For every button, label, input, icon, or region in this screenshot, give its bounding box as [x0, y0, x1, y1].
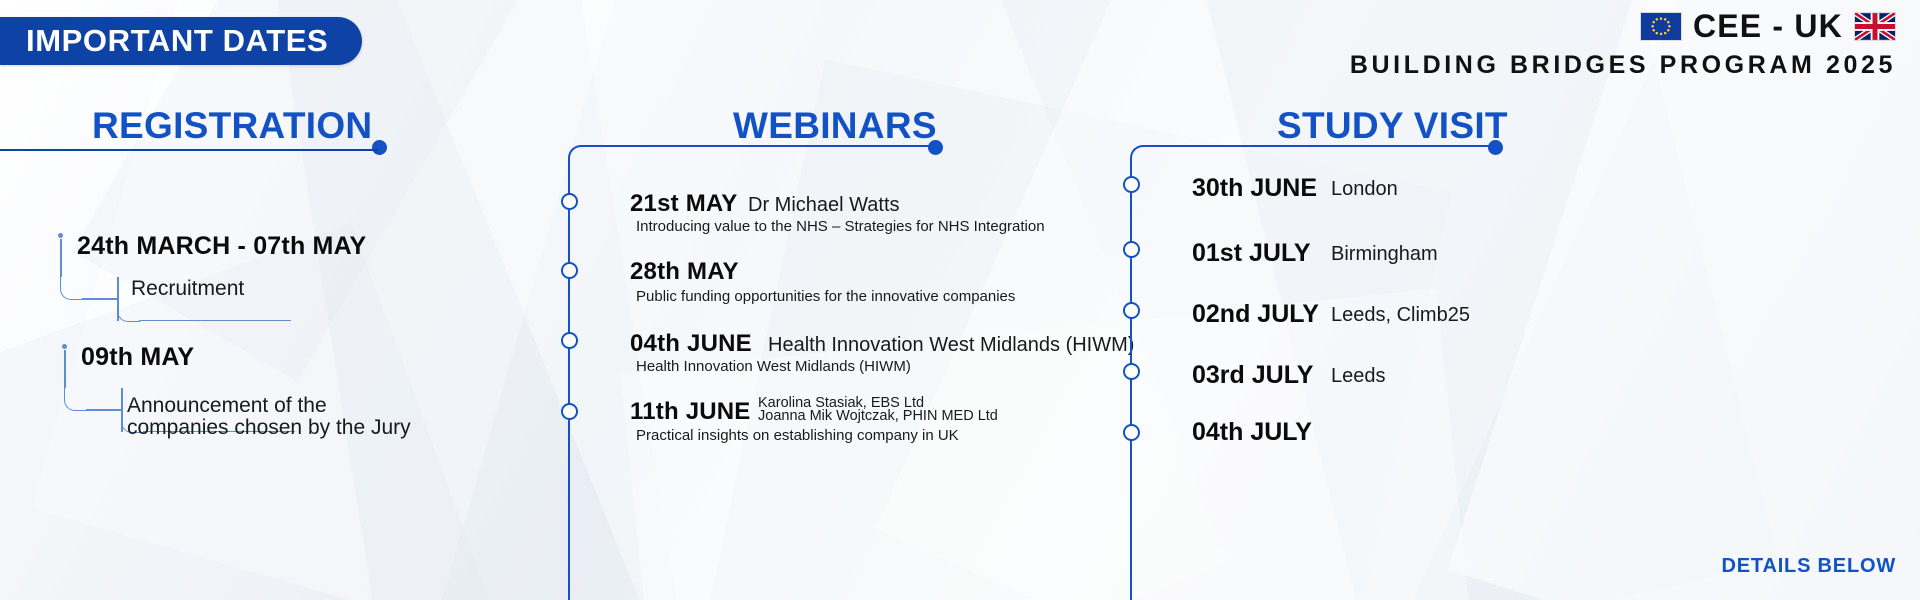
- details-below-label: DETAILS BELOW: [1722, 555, 1896, 578]
- section-title-webinars: WEBINARS: [733, 105, 937, 147]
- study-visit-node-3: [1123, 302, 1140, 319]
- study-visit-city-2: Birmingham: [1331, 243, 1438, 266]
- study-visit-city-1: London: [1331, 178, 1398, 201]
- webinars-title-dot: [928, 140, 943, 155]
- study-visit-date-3: 02nd JULY: [1192, 300, 1319, 329]
- study-visit-timeline-corner: [1130, 145, 1158, 173]
- uk-flag-icon: [1854, 12, 1896, 41]
- study-visit-node-5: [1123, 424, 1140, 441]
- study-visit-node-4: [1123, 363, 1140, 380]
- webinars-node-4: [561, 403, 578, 420]
- section-title-study-visit: STUDY VISIT: [1277, 105, 1508, 147]
- study-visit-date-1: 30th JUNE: [1192, 174, 1317, 203]
- webinars-node-1: [561, 193, 578, 210]
- study-visit-timeline-stem: [1130, 171, 1132, 600]
- study-visit-node-2: [1123, 241, 1140, 258]
- registration-underline: [0, 149, 378, 151]
- important-dates-badge: IMPORTANT DATES: [0, 17, 362, 65]
- study-visit-date-5: 04th JULY: [1192, 418, 1312, 447]
- webinar-subtitle-1: Introducing value to the NHS – Strategie…: [636, 218, 1045, 235]
- study-visit-city-3: Leeds, Climb25: [1331, 304, 1470, 327]
- webinar-subtitle-2: Public funding opportunities for the inn…: [636, 288, 1015, 305]
- brand-subtitle: BUILDING BRIDGES PROGRAM 2025: [1350, 51, 1896, 80]
- webinars-timeline-top: [594, 145, 932, 147]
- study-visit-title-dot: [1488, 140, 1503, 155]
- webinar-subtitle-4: Practical insights on establishing compa…: [636, 427, 959, 444]
- webinars-timeline-corner: [568, 145, 596, 173]
- study-visit-city-4: Leeds: [1331, 365, 1386, 388]
- webinar-subtitle-3: Health Innovation West Midlands (HIWM): [636, 358, 911, 375]
- webinar-date-1: 21st MAY: [630, 190, 737, 218]
- webinars-node-2: [561, 262, 578, 279]
- brand-header: CEE - UK BUILDING BRIDGES PROGRAM 2025: [1350, 8, 1896, 80]
- webinars-node-3: [561, 332, 578, 349]
- registration-date-2: 09th MAY: [81, 343, 194, 372]
- webinar-date-4: 11th JUNE: [630, 398, 751, 426]
- study-visit-date-4: 03rd JULY: [1192, 361, 1313, 390]
- registration-desc-2-line2: companies chosen by the Jury: [127, 414, 411, 441]
- registration-title-dot: [372, 140, 387, 155]
- registration-date-1: 24th MARCH - 07th MAY: [77, 232, 366, 261]
- webinars-timeline-stem: [568, 171, 570, 600]
- webinar-speaker-4-line2: Joanna Mik Wojtczak, PHIN MED Ltd: [758, 408, 998, 425]
- eu-flag-icon: [1640, 12, 1682, 41]
- important-dates-label: IMPORTANT DATES: [26, 23, 328, 59]
- webinar-date-2: 28th MAY: [630, 258, 739, 286]
- section-title-registration: REGISTRATION: [92, 105, 372, 147]
- webinar-date-3: 04th JUNE: [630, 330, 752, 358]
- webinar-speaker-1: Dr Michael Watts: [748, 194, 900, 217]
- study-visit-timeline-top: [1156, 145, 1492, 147]
- study-visit-node-1: [1123, 176, 1140, 193]
- brand-title: CEE - UK: [1693, 8, 1843, 45]
- study-visit-date-2: 01st JULY: [1192, 239, 1311, 268]
- registration-desc-1: Recruitment: [131, 275, 244, 302]
- webinar-speaker-3: Health Innovation West Midlands (HIWM): [768, 334, 1134, 357]
